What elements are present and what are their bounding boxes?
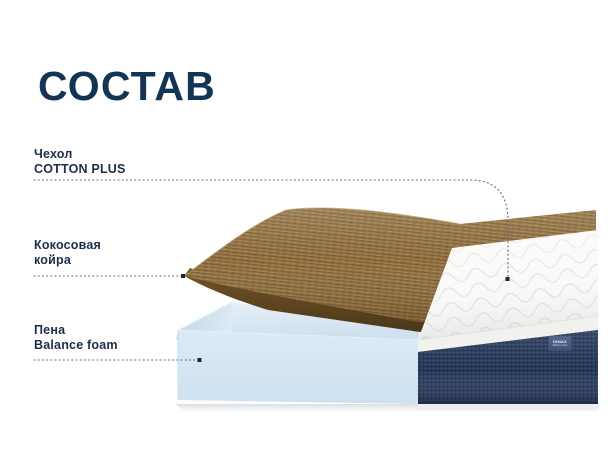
label-cover-line2: COTTON PLUS <box>34 162 126 177</box>
page-title: СОСТАВ <box>38 66 216 107</box>
composition-infographic: DIMAX Balance foam СОСТАВ Чехол COTTON P… <box>0 0 608 456</box>
label-foam-line1: Пена <box>34 323 65 337</box>
label-foam-line2: Balance foam <box>34 338 118 353</box>
label-cover: Чехол COTTON PLUS <box>34 147 126 177</box>
label-coir-line2: койра <box>34 253 101 268</box>
label-coir: Кокосовая койра <box>34 238 101 268</box>
label-foam: Пена Balance foam <box>34 323 118 353</box>
brand-tag-sub: Balance foam <box>553 344 568 347</box>
label-cover-line1: Чехол <box>34 147 72 161</box>
mattress-base-trim <box>418 404 598 410</box>
brand-tag: DIMAX Balance foam <box>549 337 571 350</box>
label-coir-line1: Кокосовая <box>34 238 101 252</box>
